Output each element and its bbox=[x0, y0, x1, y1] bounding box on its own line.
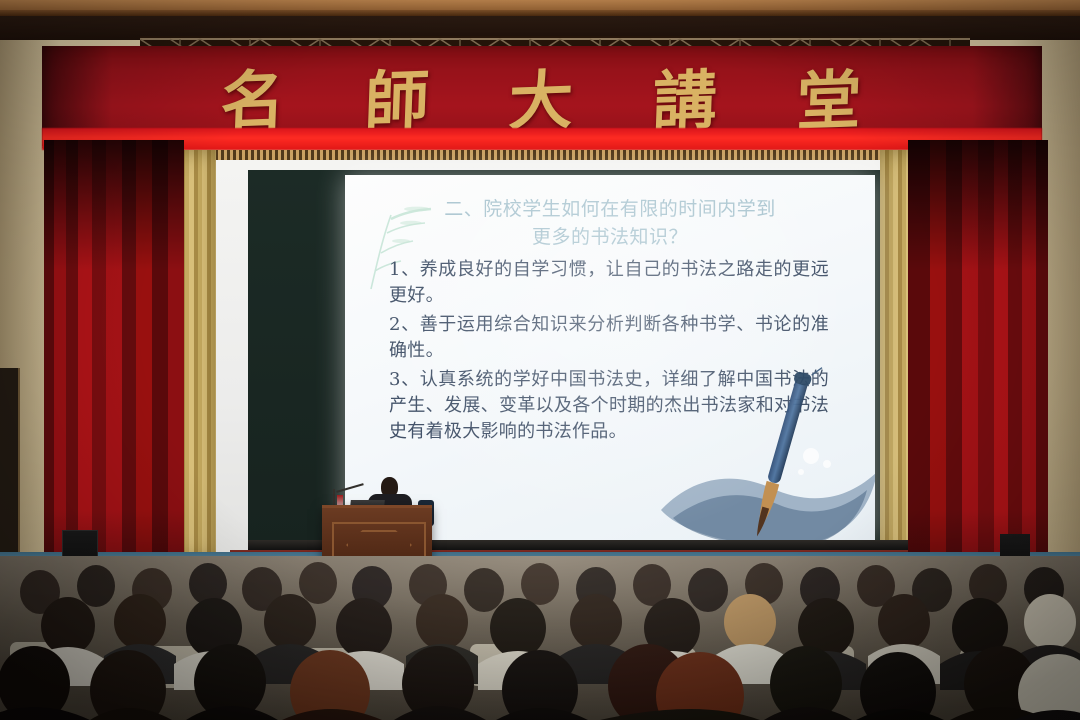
ceiling-wood-trim-shadow bbox=[0, 10, 1080, 16]
curtain-shadow-top-right bbox=[908, 140, 1048, 270]
slide-title-line-1: 二、院校学生如何在有限的时间内学到 bbox=[385, 195, 835, 223]
slide-point-2: 2、善于运用综合知识来分析判断各种书学、书论的准确性。 bbox=[389, 312, 829, 364]
seated-audience bbox=[0, 556, 1080, 720]
audience-silhouettes bbox=[0, 556, 1080, 720]
slide-title-line-2: 更多的书法知识？ bbox=[385, 223, 835, 251]
slide-point-1: 1、养成良好的自学习惯，让自己的书法之路走的更远更好。 bbox=[389, 257, 829, 309]
calligraphy-brush-ink-splash-graphic bbox=[661, 360, 875, 540]
stage-curtain-right bbox=[908, 140, 1048, 580]
slide-title: 二、院校学生如何在有限的时间内学到 更多的书法知识？ bbox=[385, 195, 835, 251]
auditorium-scene: 名 師 大 講 堂 二、院校学生如何在有限的时间内学 bbox=[0, 0, 1080, 720]
side-door-frame bbox=[0, 368, 20, 573]
banner-light-strip bbox=[42, 128, 1042, 150]
curtain-shadow-top-left bbox=[44, 140, 184, 270]
projected-slide: 二、院校学生如何在有限的时间内学到 更多的书法知识？ 1、养成良好的自学习惯，让… bbox=[345, 175, 875, 540]
stage-curtain-left bbox=[44, 140, 184, 580]
